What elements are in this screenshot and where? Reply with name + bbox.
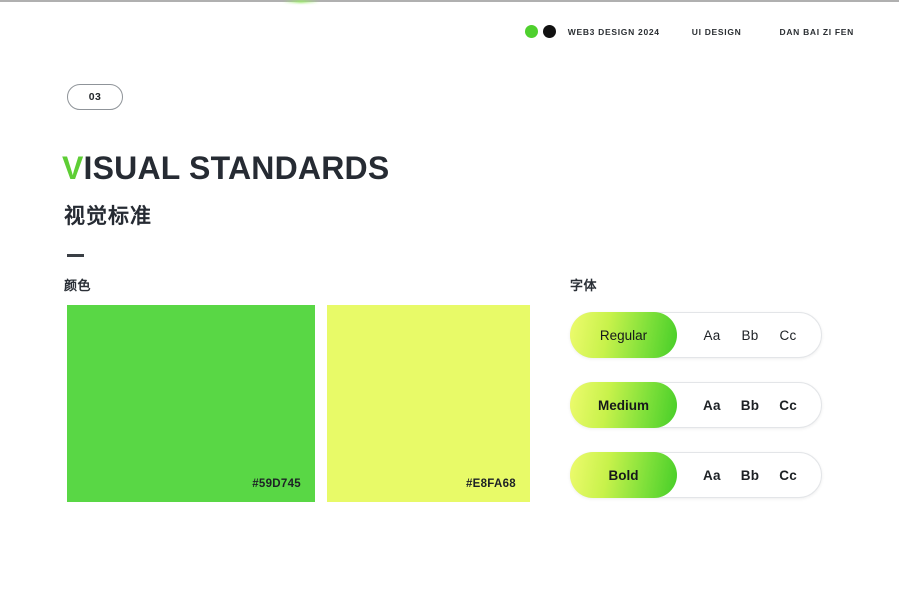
black-dot-icon <box>543 25 556 38</box>
green-dot-icon <box>525 25 538 38</box>
section-dash-divider <box>67 254 84 257</box>
font-sample-group: Aa Bb Cc <box>677 468 821 483</box>
font-weight-pill[interactable]: Bold <box>570 452 677 498</box>
top-divider <box>0 0 899 2</box>
page-title-cn: 视觉标准 <box>64 200 152 230</box>
font-weight-pill[interactable]: Medium <box>570 382 677 428</box>
font-weight-row[interactable]: Medium Aa Bb Cc <box>570 382 822 428</box>
header-bar: WEB3 DESIGN 2024 UI DESIGN DAN BAI ZI FE… <box>525 25 854 38</box>
page-title-rest: ISUAL STANDARDS <box>84 150 390 186</box>
header-nav-ui-design[interactable]: UI DESIGN <box>692 27 742 37</box>
header-nav-dan-bai-zi-fen[interactable]: DAN BAI ZI FEN <box>780 27 855 37</box>
font-sample-bb: Bb <box>742 328 759 343</box>
font-sample-bb: Bb <box>741 398 759 413</box>
font-sample-cc: Cc <box>779 468 797 483</box>
font-sample-cc: Cc <box>780 328 797 343</box>
section-number-label: 03 <box>89 91 101 103</box>
font-sample-aa: Aa <box>704 328 721 343</box>
color-swatch[interactable]: #E8FA68 <box>327 305 530 502</box>
color-swatch-hex-label: #E8FA68 <box>466 478 516 490</box>
font-sample-group: Aa Bb Cc <box>677 398 821 413</box>
font-sample-group: Aa Bb Cc <box>677 328 821 343</box>
header-brand-label: WEB3 DESIGN 2024 <box>568 27 660 37</box>
page-title-en: VISUAL STANDARDS <box>62 150 389 187</box>
color-swatch-hex-label: #59D745 <box>252 478 301 490</box>
section-label-colors: 颜色 <box>64 275 91 294</box>
font-weight-row[interactable]: Regular Aa Bb Cc <box>570 312 822 358</box>
section-number-badge: 03 <box>67 84 123 110</box>
section-label-fonts: 字体 <box>570 275 597 294</box>
top-accent-glow-icon <box>283 0 319 3</box>
font-sample-bb: Bb <box>741 468 759 483</box>
font-weight-row[interactable]: Bold Aa Bb Cc <box>570 452 822 498</box>
font-sample-aa: Aa <box>703 468 721 483</box>
font-sample-cc: Cc <box>779 398 797 413</box>
font-weight-pill[interactable]: Regular <box>570 312 677 358</box>
page-title-accent-letter: V <box>62 150 84 186</box>
font-sample-aa: Aa <box>703 398 721 413</box>
color-swatch[interactable]: #59D745 <box>67 305 315 502</box>
